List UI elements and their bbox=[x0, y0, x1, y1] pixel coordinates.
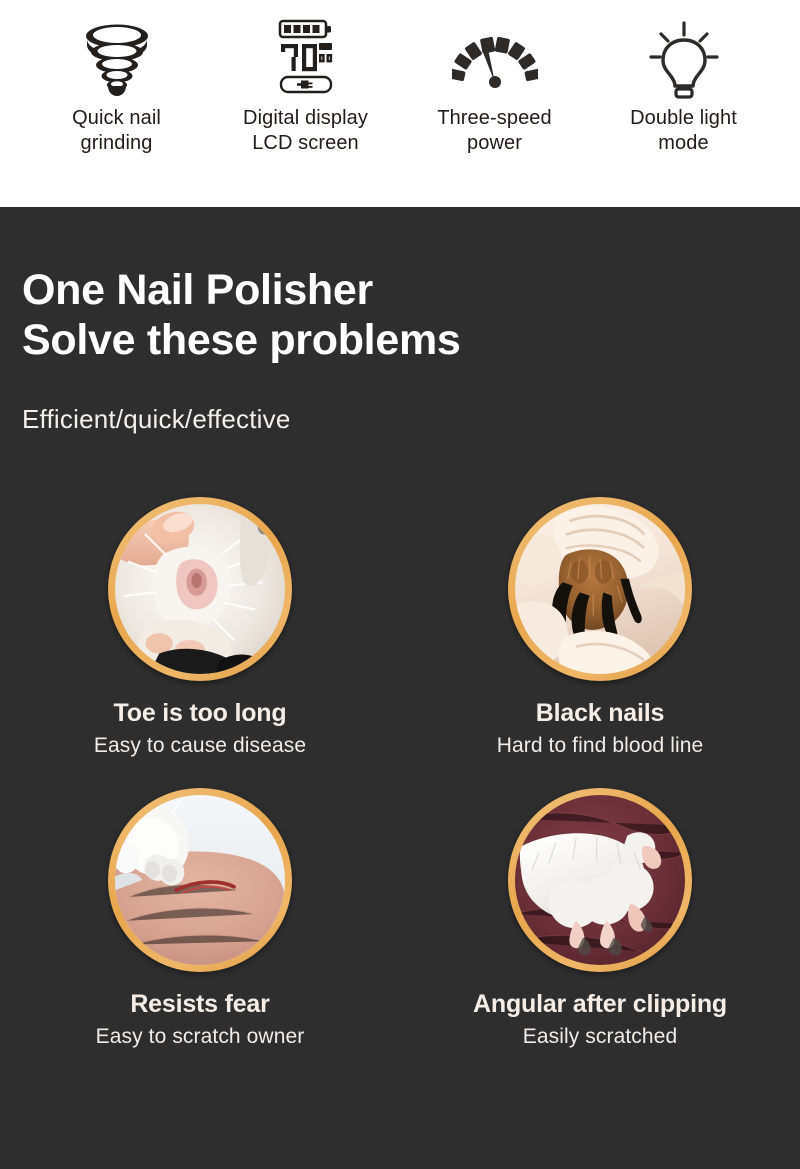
problem-subtitle: Easily scratched bbox=[523, 1025, 678, 1049]
feature-item-double-light-mode: Double light mode bbox=[589, 14, 778, 156]
promo-section: One Nail Polisher Solve these problems E… bbox=[0, 207, 800, 1169]
feature-item-quick-nail-grinding: Quick nail grinding bbox=[22, 14, 211, 156]
speedometer-icon bbox=[400, 14, 589, 106]
photo-white-paw-scratching-human-skin bbox=[115, 795, 285, 965]
feature-bar: Quick nail grinding bbox=[0, 0, 800, 207]
subheadline: Efficient/quick/effective bbox=[22, 403, 291, 435]
light-bulb-icon bbox=[589, 14, 778, 106]
feature-item-three-speed-power: Three-speed power bbox=[400, 14, 589, 156]
page-title: One Nail Polisher Solve these problems bbox=[22, 265, 762, 365]
photo-white-furry-paw-held-by-hand bbox=[115, 504, 285, 674]
problem-subtitle: Easy to cause disease bbox=[94, 734, 306, 758]
feature-item-digital-display: Digital display LCD screen bbox=[211, 14, 400, 156]
grinder-cone-icon bbox=[22, 14, 211, 106]
photo-white-paw-on-maroon-surface bbox=[515, 795, 685, 965]
problem-title: Resists fear bbox=[130, 990, 269, 1019]
problems-grid: Toe is too long Easy to cause disease bbox=[0, 497, 800, 1049]
problem-subtitle: Easy to scratch owner bbox=[96, 1025, 305, 1049]
lcd-screen-icon bbox=[211, 14, 400, 106]
problems-row: Toe is too long Easy to cause disease bbox=[0, 497, 800, 758]
problem-card: Toe is too long Easy to cause disease bbox=[0, 497, 400, 758]
problem-title: Black nails bbox=[536, 699, 664, 728]
problem-title: Toe is too long bbox=[114, 699, 287, 728]
photo-ring bbox=[508, 788, 692, 972]
photo-ring bbox=[108, 788, 292, 972]
problem-card: Black nails Hard to find blood line bbox=[400, 497, 800, 758]
problems-row: Resists fear Easy to scratch owner bbox=[0, 788, 800, 1049]
headline-line-1: One Nail Polisher bbox=[22, 265, 762, 315]
photo-brown-paw-black-nails-gloved-hand bbox=[515, 504, 685, 674]
problem-card: Angular after clipping Easily scratched bbox=[400, 788, 800, 1049]
feature-label: Digital display LCD screen bbox=[243, 106, 368, 156]
feature-label: Double light mode bbox=[630, 106, 737, 156]
photo-ring bbox=[108, 497, 292, 681]
headline-line-2: Solve these problems bbox=[22, 315, 762, 365]
photo-ring bbox=[508, 497, 692, 681]
problem-card: Resists fear Easy to scratch owner bbox=[0, 788, 400, 1049]
problem-title: Angular after clipping bbox=[473, 990, 727, 1019]
feature-label: Quick nail grinding bbox=[72, 106, 161, 156]
problem-subtitle: Hard to find blood line bbox=[497, 734, 704, 758]
feature-label: Three-speed power bbox=[437, 106, 552, 156]
product-feature-page: Quick nail grinding bbox=[0, 0, 800, 1169]
